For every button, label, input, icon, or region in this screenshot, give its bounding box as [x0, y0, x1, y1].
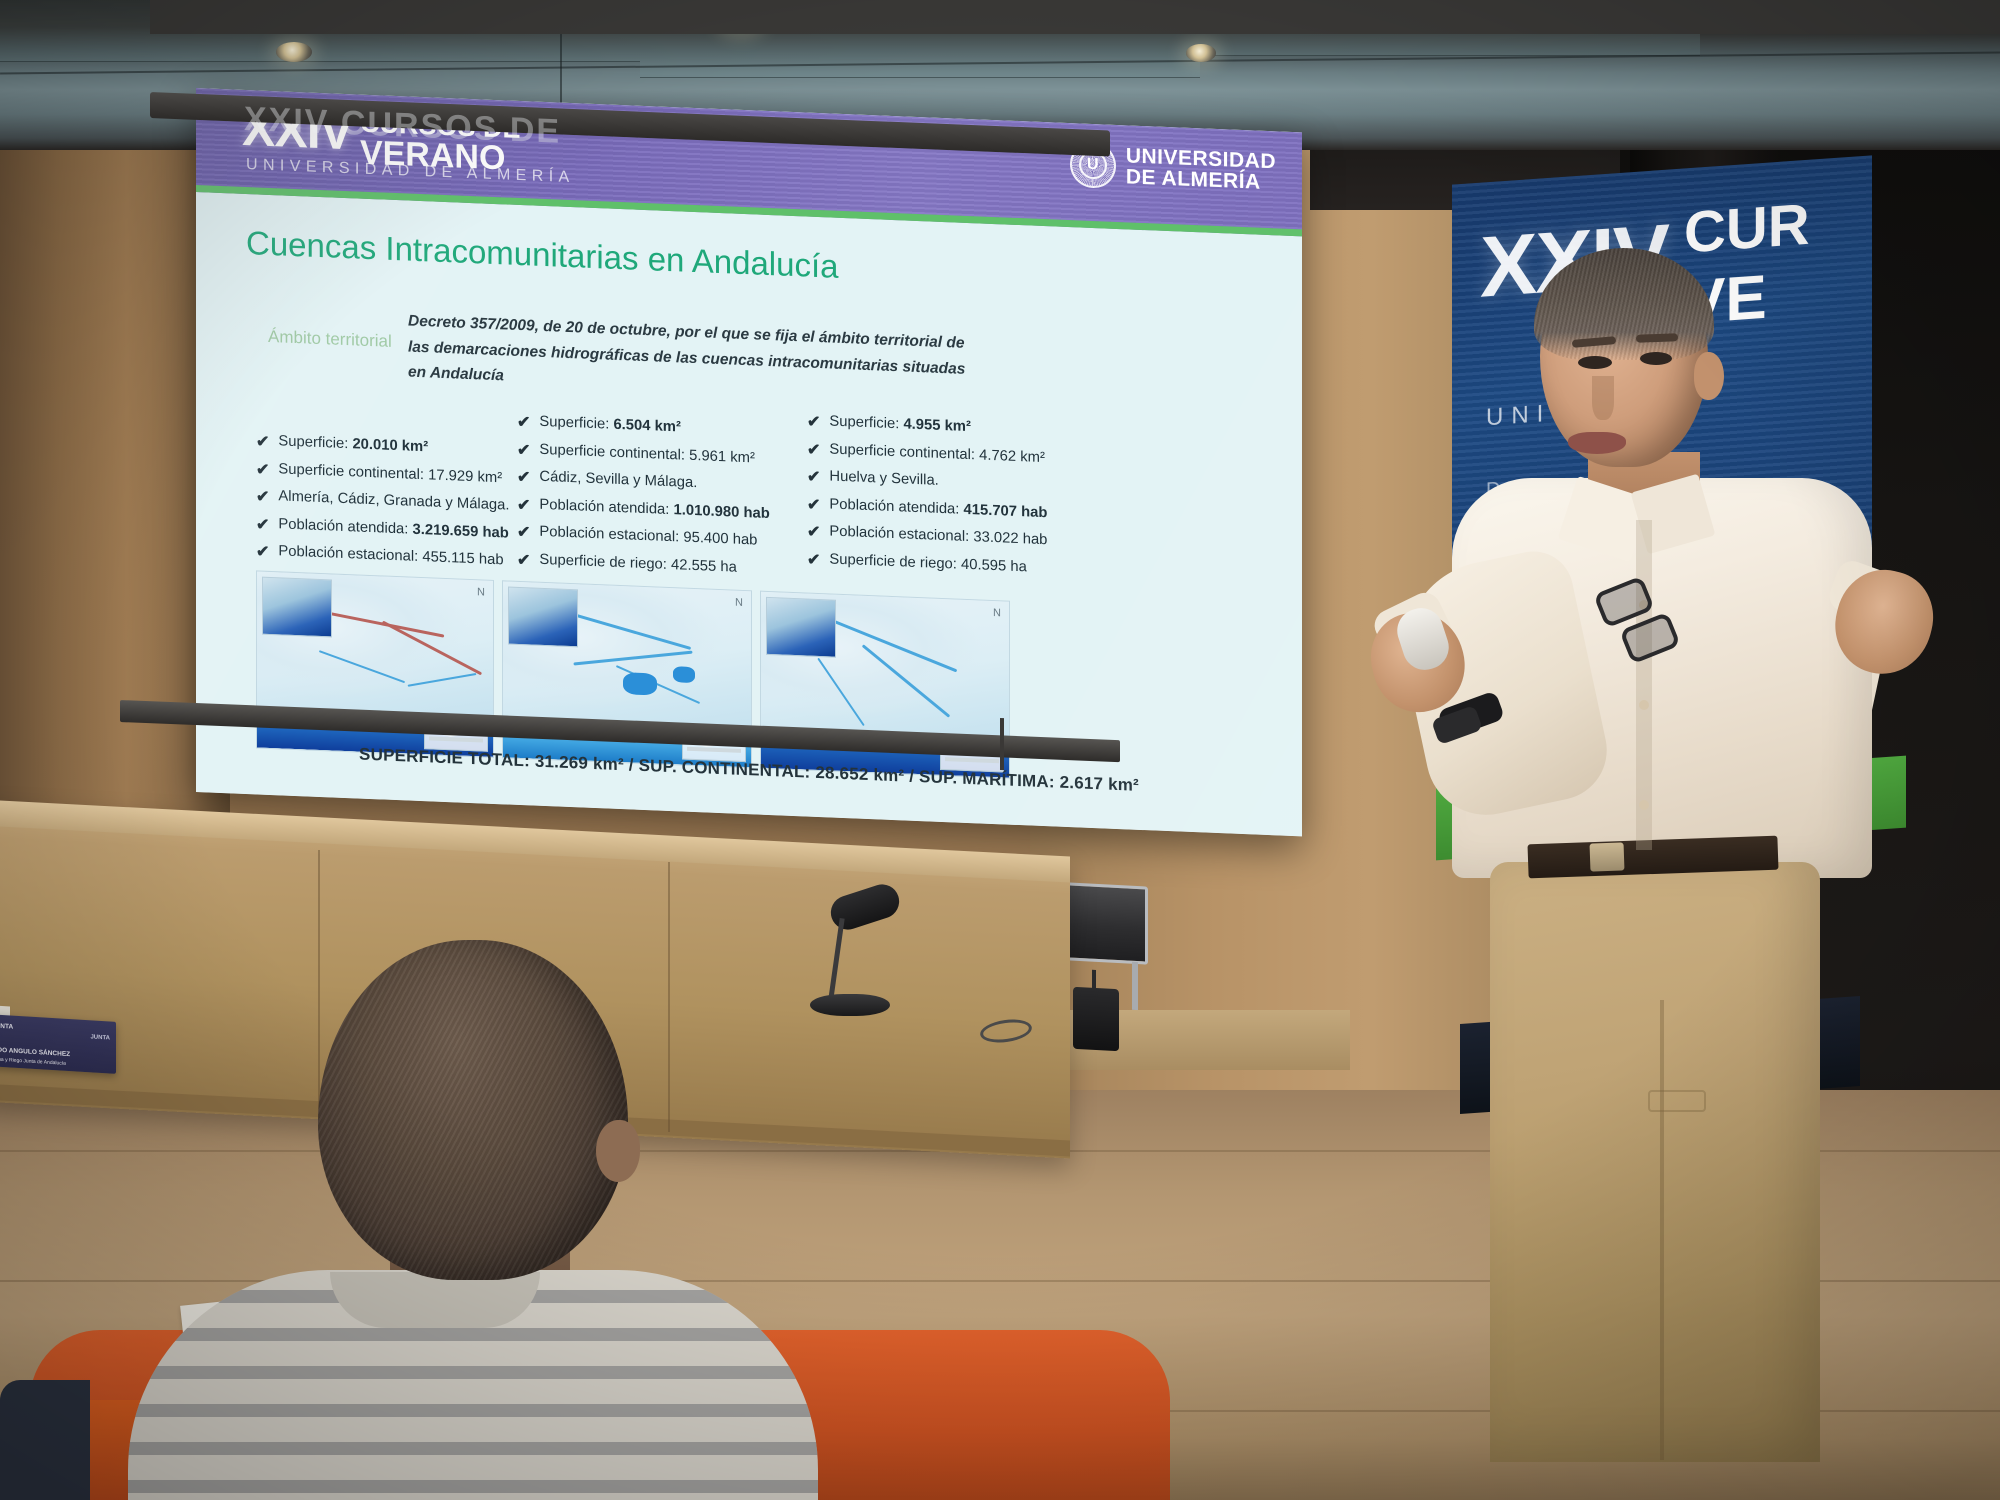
map-inset	[508, 587, 578, 648]
belt-buckle	[1590, 842, 1625, 871]
check-icon: ✔	[517, 413, 530, 432]
north-arrow-icon: N	[993, 607, 1001, 619]
wireless-transmitter	[1073, 987, 1119, 1051]
bullet-text: Superficie continental: 17.929 km²	[278, 461, 502, 487]
screen-top-casing	[150, 0, 2000, 34]
north-arrow-icon: N	[735, 597, 743, 609]
bullet-text: Superficie continental: 4.762 km²	[829, 441, 1045, 467]
transmitter-antenna	[1092, 970, 1096, 990]
nameplate-role: Agua y Riego Junta de Andalucía	[0, 1056, 66, 1067]
check-icon: ✔	[807, 550, 820, 569]
bullet-item: ✔Población estacional: 455.115 hab	[256, 542, 501, 570]
check-icon: ✔	[517, 440, 530, 459]
university-line2: DE ALMERÍA	[1126, 166, 1276, 193]
shirt-button	[1639, 800, 1649, 810]
speaker-ear	[1694, 352, 1724, 400]
bullet-value: 4.955 km²	[903, 416, 970, 435]
speaker-nameplate: JUNTA JUNTA ...DO ANGULO SÁNCHEZ Agua y …	[0, 1014, 116, 1074]
audience-collar	[330, 1272, 540, 1328]
hanging-glasses-icon	[1598, 556, 1684, 666]
bullet-text: Superficie de riego: 40.595 ha	[829, 551, 1026, 576]
bullet-item: ✔Cádiz, Sevilla y Málaga.	[517, 468, 787, 497]
audience-seat-dark	[0, 1380, 90, 1500]
hair-texture	[318, 940, 628, 1280]
nameplate-line-top: JUNTA	[0, 1022, 13, 1030]
bullet-value: 20.010 km²	[352, 436, 428, 455]
bullet-item: ✔Superficie continental: 4.762 km²	[807, 440, 1087, 469]
bullet-item: ✔Almería, Cádiz, Granada y Málaga.	[256, 487, 501, 515]
bullet-value: 3.219.659 hab	[413, 521, 509, 541]
bullet-text: Población estacional: 455.115 hab	[278, 543, 503, 569]
check-icon: ✔	[256, 460, 269, 479]
bullet-item: ✔Superficie de riego: 40.595 ha	[807, 550, 1087, 579]
check-icon: ✔	[517, 468, 530, 487]
bullet-text: Población estacional: 95.400 hab	[539, 524, 757, 550]
nameplate-logo: JUNTA	[90, 1034, 110, 1041]
bullet-item: ✔Población atendida: 415.707 hab	[807, 495, 1087, 524]
shirt-stripe	[128, 1442, 818, 1455]
bullet-text: Población atendida: 1.010.980 hab	[539, 496, 769, 522]
desk-seam	[668, 862, 670, 1132]
slide-title: Cuencas Intracomunitarias en Andalucía	[246, 224, 839, 286]
check-icon: ✔	[517, 523, 530, 542]
ceiling-downlight	[276, 42, 312, 62]
bullet-text: Almería, Cádiz, Granada y Málaga.	[278, 488, 509, 514]
speaker-mouth	[1568, 432, 1626, 454]
bullet-value: 6.504 km²	[613, 417, 680, 436]
speaker-eyebrow	[1636, 333, 1678, 342]
legend-swatch	[687, 747, 741, 753]
check-icon: ✔	[256, 542, 269, 561]
reservoir	[623, 672, 657, 695]
north-arrow-icon: N	[477, 586, 485, 598]
speaker-nose	[1592, 376, 1614, 420]
bullet-item: ✔Superficie: 6.504 km²	[517, 413, 787, 442]
bullet-item: ✔Superficie continental: 5.961 km²	[517, 440, 787, 469]
bullet-item: ✔Población estacional: 95.400 hab	[517, 523, 787, 552]
bullet-text: Cádiz, Sevilla y Málaga.	[539, 469, 697, 492]
bullet-item: ✔Población atendida: 1.010.980 hab	[517, 495, 787, 524]
table-microphone	[800, 890, 910, 1020]
check-icon: ✔	[517, 495, 530, 514]
screen-pull-cord[interactable]	[1000, 718, 1004, 770]
chair-post	[1132, 962, 1138, 1010]
bullet-text: Población estacional: 33.022 hab	[829, 523, 1047, 549]
screenshot-stage: XXIV CUR VE UNIVE D A H www.ua o XXIV CU…	[0, 0, 2000, 1500]
bullet-text: Superficie: 6.504 km²	[539, 414, 680, 437]
university-name: UNIVERSIDAD DE ALMERÍA	[1126, 145, 1276, 193]
check-icon: ✔	[807, 495, 820, 514]
bullet-text: Población atendida: 415.707 hab	[829, 496, 1047, 522]
microphone-base	[810, 994, 890, 1016]
bullet-text: Superficie de riego: 42.555 ha	[539, 551, 736, 576]
bullet-text: Superficie: 20.010 km²	[278, 433, 428, 456]
legend-swatch	[945, 757, 999, 763]
check-icon: ✔	[807, 440, 820, 459]
shirt-stripe	[128, 1328, 818, 1341]
check-icon: ✔	[807, 523, 820, 542]
speaker-eye	[1578, 356, 1612, 369]
microphone-stem	[828, 918, 844, 1000]
audience-head	[318, 940, 628, 1280]
shirt-button	[1639, 700, 1649, 710]
speaker-trousers	[1490, 862, 1820, 1462]
reservoir	[673, 666, 695, 683]
check-icon: ✔	[517, 550, 530, 569]
bullet-text: Superficie continental: 5.961 km²	[539, 441, 755, 467]
bullet-text: Población atendida: 3.219.659 hab	[278, 516, 508, 542]
map-inset	[766, 597, 836, 658]
map-inset	[262, 577, 332, 638]
bullet-value: 415.707 hab	[964, 501, 1048, 520]
ambito-territorial-label: Ámbito territorial	[268, 327, 392, 352]
bullet-item: ✔Superficie continental: 17.929 km²	[256, 460, 501, 488]
bullet-value: 1.010.980 hab	[674, 502, 770, 522]
bullet-item: ✔Huelva y Sevilla.	[807, 468, 1087, 497]
speaker-eye	[1640, 352, 1672, 365]
check-icon: ✔	[256, 432, 269, 451]
bullet-item: ✔Superficie: 4.955 km²	[807, 413, 1087, 442]
nameplate-name: ...DO ANGULO SÁNCHEZ	[0, 1046, 70, 1058]
trouser-seam	[1660, 1000, 1664, 1460]
bullet-item: ✔Población atendida: 3.219.659 hab	[256, 515, 501, 543]
bullet-item: ✔Población estacional: 33.022 hab	[807, 523, 1087, 552]
bullet-item: ✔Superficie de riego: 42.555 ha	[517, 550, 787, 579]
legend-swatch	[429, 736, 483, 742]
trouser-pocket	[1648, 1090, 1706, 1112]
decree-text: Decreto 357/2009, de 20 de octubre, por …	[408, 309, 968, 408]
check-icon: ✔	[256, 515, 269, 534]
bullet-text: Superficie: 4.955 km²	[829, 413, 970, 436]
check-icon: ✔	[807, 468, 820, 487]
shirt-stripe	[128, 1404, 818, 1417]
banner-line1: CUR	[1684, 196, 1810, 263]
ceiling-downlight	[1186, 44, 1216, 62]
check-icon: ✔	[256, 487, 269, 506]
shirt-stripe	[128, 1366, 818, 1379]
audience-ear	[596, 1120, 640, 1182]
shirt-stripe	[128, 1480, 818, 1493]
bullet-text: Huelva y Sevilla.	[829, 468, 938, 489]
bullet-item: ✔Superficie: 20.010 km²	[256, 432, 501, 460]
check-icon: ✔	[807, 413, 820, 432]
